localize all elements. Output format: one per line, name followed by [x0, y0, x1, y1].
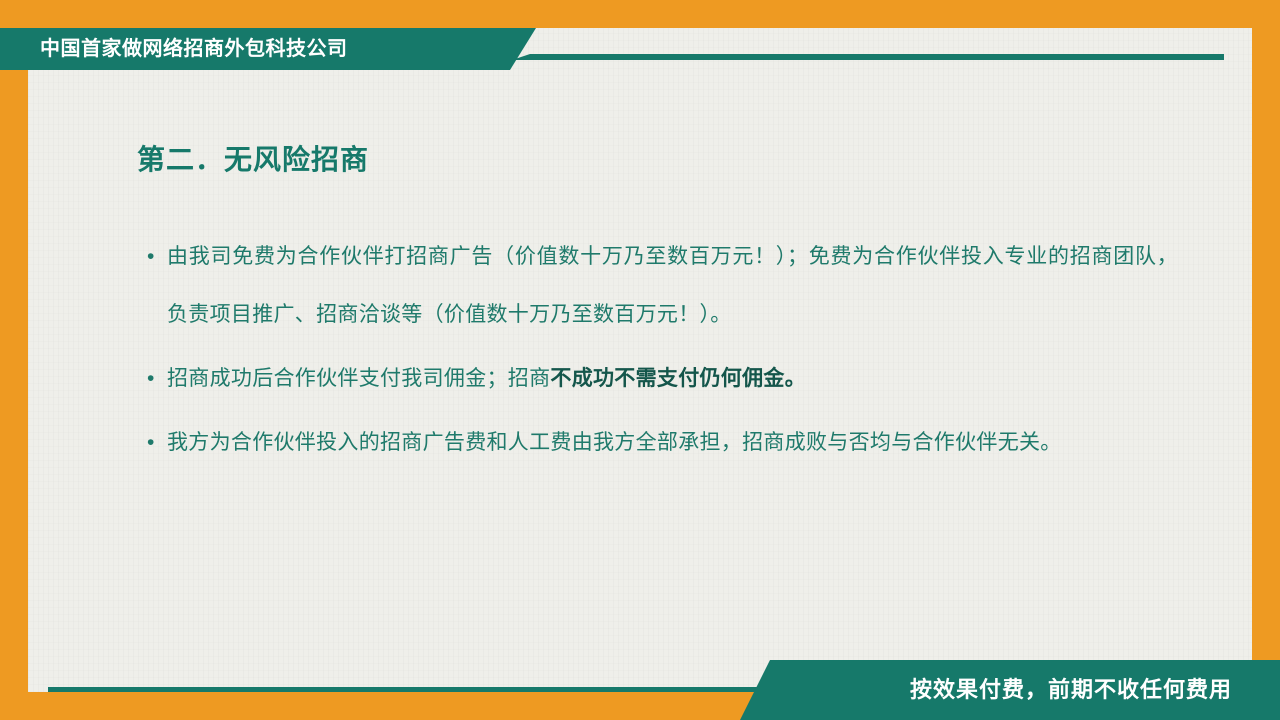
bullet-dot-icon: • [147, 414, 155, 472]
bullet-list: • 由我司免费为合作伙伴打招商广告（价值数十万乃至数百万元！）；免费为合作伙伴投… [143, 228, 1178, 472]
header-title: 中国首家做网络招商外包科技公司 [40, 28, 348, 70]
footer-text: 按效果付费，前期不收任何费用 [910, 660, 1232, 720]
list-item-text: 由我司免费为合作伙伴打招商广告（价值数十万乃至数百万元！）；免费为合作伙伴投入专… [167, 245, 1178, 326]
list-item-text-emphasis: 不成功不需支付仍何佣金。 [550, 367, 806, 390]
list-item-text: 我方为合作伙伴投入的招商广告费和人工费由我方全部承担，招商成败与否均与合作伙伴无… [167, 431, 1062, 454]
list-item: • 由我司免费为合作伙伴打招商广告（价值数十万乃至数百万元！）；免费为合作伙伴投… [143, 228, 1178, 344]
list-item-text: 招商成功后合作伙伴支付我司佣金；招商 [167, 367, 550, 390]
list-item: • 招商成功后合作伙伴支付我司佣金；招商不成功不需支付仍何佣金。 [143, 350, 1178, 408]
slide: 中国首家做网络招商外包科技公司 第二．无风险招商 • 由我司免费为合作伙伴打招商… [0, 0, 1280, 720]
page-title: 第二．无风险招商 [137, 138, 369, 178]
footer-rule [48, 687, 754, 692]
bullet-dot-icon: • [147, 228, 155, 286]
bullet-dot-icon: • [147, 350, 155, 408]
footer-band: 按效果付费，前期不收任何费用 [0, 648, 1280, 720]
list-item: • 我方为合作伙伴投入的招商广告费和人工费由我方全部承担，招商成败与否均与合作伙… [143, 414, 1178, 472]
header-ribbon-line [530, 54, 1224, 60]
